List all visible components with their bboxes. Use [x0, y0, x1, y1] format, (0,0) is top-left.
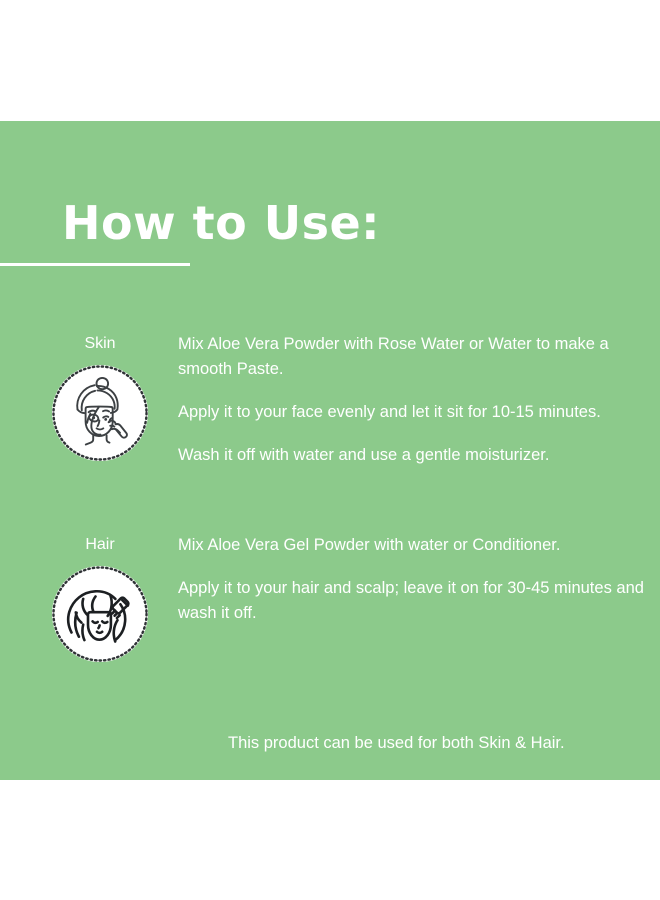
- hair-paragraph-1: Mix Aloe Vera Gel Powder with water or C…: [178, 533, 646, 558]
- skin-paragraph-1: Mix Aloe Vera Powder with Rose Water or …: [178, 332, 646, 382]
- woman-face-mask-icon: [52, 365, 148, 461]
- woman-hair-brush-icon: [52, 566, 148, 662]
- page-title: How to Use:: [62, 200, 380, 246]
- hair-text-column: Mix Aloe Vera Gel Powder with water or C…: [178, 533, 646, 626]
- footnote-text: This product can be used for both Skin &…: [228, 731, 565, 756]
- title-underline-rule: [0, 263, 190, 266]
- hair-icon-label: Hair: [52, 537, 148, 553]
- hair-paragraph-2: Apply it to your hair and scalp; leave i…: [178, 576, 646, 626]
- skin-paragraph-3: Wash it off with water and use a gentle …: [178, 443, 646, 468]
- skin-icon-column: Skin: [52, 336, 148, 461]
- hair-icon-column: Hair: [52, 537, 148, 662]
- skin-text-column: Mix Aloe Vera Powder with Rose Water or …: [178, 332, 646, 468]
- skin-icon-label: Skin: [52, 336, 148, 352]
- skin-paragraph-2: Apply it to your face evenly and let it …: [178, 400, 646, 425]
- how-to-use-infographic: How to Use: Skin: [0, 0, 660, 900]
